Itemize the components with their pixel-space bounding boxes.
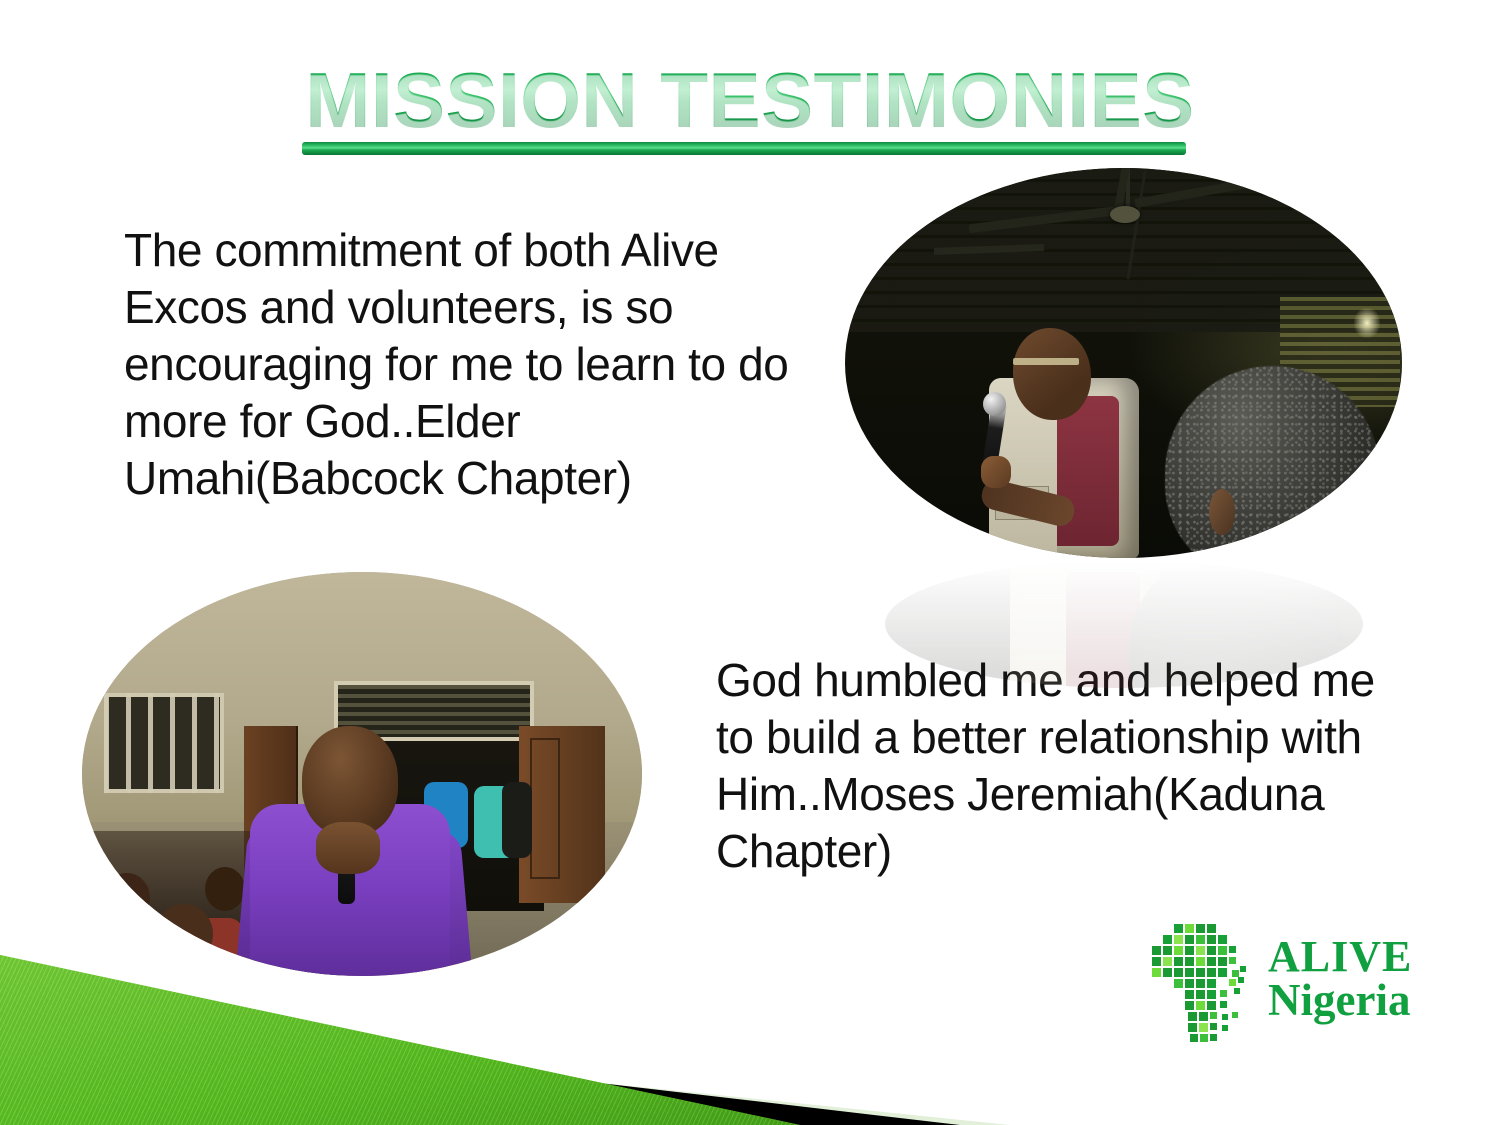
speaker-hands — [316, 822, 380, 874]
slide-canvas: MISSION TESTIMONIES The commitment of bo… — [0, 0, 1500, 1125]
audience-head — [155, 904, 213, 964]
africa-mosaic-icon — [1152, 922, 1270, 1044]
title-container: MISSION TESTIMONIES — [0, 58, 1500, 142]
ceiling-fan-hub — [1110, 206, 1140, 223]
logo-nigeria-text: Nigeria — [1268, 979, 1448, 1023]
speaker-face — [1013, 328, 1091, 420]
door-panel — [530, 738, 560, 879]
photo-scene-background — [845, 168, 1402, 558]
photo-speaker-purple-sweater — [82, 572, 642, 976]
testimony-text-right: God humbled me and helped me to build a … — [716, 652, 1416, 880]
testimony-text-left: The commitment of both Alive Excos and v… — [124, 222, 824, 507]
speaker-head — [302, 726, 398, 836]
photo-speaker-dark-hall — [845, 168, 1402, 558]
alive-nigeria-logo: ALIVE Nigeria — [1152, 922, 1442, 1044]
window-light-glow — [1354, 308, 1380, 338]
window-bars — [104, 693, 224, 793]
photo-scene-background — [82, 572, 642, 976]
speaker-figure — [250, 726, 460, 976]
logo-wordmark: ALIVE Nigeria — [1268, 936, 1448, 1022]
eyeglasses — [1013, 358, 1079, 365]
page-title: MISSION TESTIMONIES — [305, 58, 1194, 142]
listener-ear — [1209, 489, 1235, 535]
speaker-figure — [979, 328, 1179, 558]
background-person-dark — [502, 782, 532, 858]
title-underline-bar — [302, 142, 1186, 155]
logo-alive-text: ALIVE — [1268, 936, 1448, 979]
microphone-head — [983, 392, 1006, 416]
speaker-hand — [981, 456, 1011, 488]
